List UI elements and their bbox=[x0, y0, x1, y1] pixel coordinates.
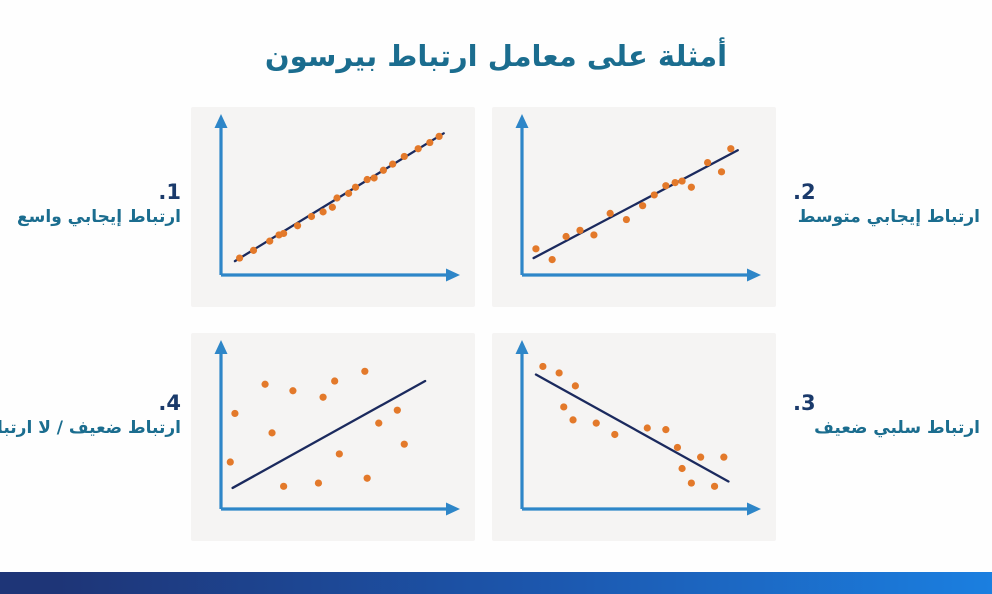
data-point bbox=[394, 407, 401, 414]
data-point bbox=[280, 483, 287, 490]
data-point bbox=[569, 416, 576, 423]
data-point bbox=[644, 424, 651, 431]
data-point bbox=[319, 394, 326, 401]
data-point bbox=[711, 483, 718, 490]
data-point bbox=[268, 429, 275, 436]
x-axis-arrowhead-icon bbox=[446, 269, 460, 282]
caption-item-1: 1. ارتباط إيجابي واسع bbox=[0, 178, 186, 229]
data-point bbox=[329, 204, 336, 211]
data-point bbox=[375, 420, 382, 427]
x-axis-arrowhead-icon bbox=[446, 503, 460, 516]
caption-label-3: ارتباط سلبي ضعيف bbox=[781, 417, 980, 440]
data-points-group bbox=[227, 368, 408, 490]
trend-line bbox=[536, 375, 729, 482]
y-axis-arrowhead-icon bbox=[516, 114, 529, 128]
caption-label-2: ارتباط إيجابي متوسط bbox=[781, 206, 980, 229]
data-point bbox=[532, 245, 539, 252]
data-point bbox=[718, 168, 725, 175]
data-point bbox=[333, 194, 340, 201]
data-point bbox=[697, 454, 704, 461]
data-point bbox=[435, 133, 442, 140]
data-point bbox=[345, 190, 352, 197]
y-axis-arrowhead-icon bbox=[215, 340, 228, 354]
caption-number-1: 1. bbox=[0, 178, 181, 206]
data-point bbox=[361, 368, 368, 375]
data-point bbox=[720, 454, 727, 461]
data-point bbox=[294, 222, 301, 229]
x-axis-arrowhead-icon bbox=[747, 503, 761, 516]
data-point bbox=[231, 410, 238, 417]
data-point bbox=[401, 441, 408, 448]
data-point bbox=[389, 161, 396, 168]
caption-number-2: 2. bbox=[781, 178, 980, 206]
data-point bbox=[590, 231, 597, 238]
caption-item-2: 2. ارتباط إيجابي متوسط bbox=[781, 178, 986, 229]
data-point bbox=[415, 145, 422, 152]
data-point bbox=[364, 176, 371, 183]
scatter-chart-1 bbox=[191, 107, 475, 307]
data-point bbox=[662, 426, 669, 433]
scatter-panel-3 bbox=[492, 333, 776, 541]
data-point bbox=[266, 238, 273, 245]
data-point bbox=[549, 256, 556, 263]
scatter-chart-4 bbox=[191, 333, 475, 541]
data-point bbox=[426, 139, 433, 146]
trend-line bbox=[233, 381, 426, 488]
scatter-chart-2 bbox=[492, 107, 776, 307]
data-point bbox=[319, 208, 326, 215]
data-point bbox=[236, 254, 243, 261]
data-point bbox=[562, 233, 569, 240]
data-point bbox=[331, 377, 338, 384]
caption-number-4: 4. bbox=[0, 389, 181, 417]
slide-canvas: أمثلة على معامل ارتباط بيرسون 1. ارتباط … bbox=[0, 0, 992, 594]
y-axis-arrowhead-icon bbox=[215, 114, 228, 128]
data-point bbox=[308, 213, 315, 220]
data-point bbox=[371, 174, 378, 181]
data-point bbox=[623, 216, 630, 223]
data-point bbox=[639, 202, 646, 209]
trend-line bbox=[534, 150, 738, 258]
data-point bbox=[727, 145, 734, 152]
data-point bbox=[539, 363, 546, 370]
data-point bbox=[280, 230, 287, 237]
data-point bbox=[401, 153, 408, 160]
data-point bbox=[352, 184, 359, 191]
data-points-group bbox=[539, 363, 727, 490]
data-point bbox=[607, 210, 614, 217]
data-point bbox=[572, 382, 579, 389]
scatter-panel-2 bbox=[492, 107, 776, 307]
data-point bbox=[261, 381, 268, 388]
data-point bbox=[227, 458, 234, 465]
data-point bbox=[678, 177, 685, 184]
data-point bbox=[560, 403, 567, 410]
data-point bbox=[380, 167, 387, 174]
bottom-accent-bar bbox=[0, 572, 992, 594]
data-point bbox=[315, 479, 322, 486]
data-point bbox=[672, 179, 679, 186]
data-point bbox=[704, 159, 711, 166]
scatter-panel-4 bbox=[191, 333, 475, 541]
data-point bbox=[336, 450, 343, 457]
data-point bbox=[250, 247, 257, 254]
data-point bbox=[688, 184, 695, 191]
data-point bbox=[289, 387, 296, 394]
data-point bbox=[651, 191, 658, 198]
data-point bbox=[611, 431, 618, 438]
caption-number-3: 3. bbox=[781, 389, 980, 417]
caption-item-3: 3. ارتباط سلبي ضعيف bbox=[781, 389, 986, 440]
data-point bbox=[662, 182, 669, 189]
data-point bbox=[556, 369, 563, 376]
data-point bbox=[364, 475, 371, 482]
page-title: أمثلة على معامل ارتباط بيرسون bbox=[0, 38, 992, 74]
data-point bbox=[688, 479, 695, 486]
data-point bbox=[674, 444, 681, 451]
y-axis-arrowhead-icon bbox=[516, 340, 529, 354]
data-point bbox=[576, 227, 583, 234]
caption-item-4: 4. ارتباط ضعيف / لا ارتباط bbox=[0, 389, 186, 440]
scatter-panel-1 bbox=[191, 107, 475, 307]
data-point bbox=[593, 420, 600, 427]
scatter-chart-3 bbox=[492, 333, 776, 541]
data-point bbox=[678, 465, 685, 472]
caption-label-4: ارتباط ضعيف / لا ارتباط bbox=[0, 417, 181, 440]
caption-label-1: ارتباط إيجابي واسع bbox=[0, 206, 181, 229]
x-axis-arrowhead-icon bbox=[747, 269, 761, 282]
